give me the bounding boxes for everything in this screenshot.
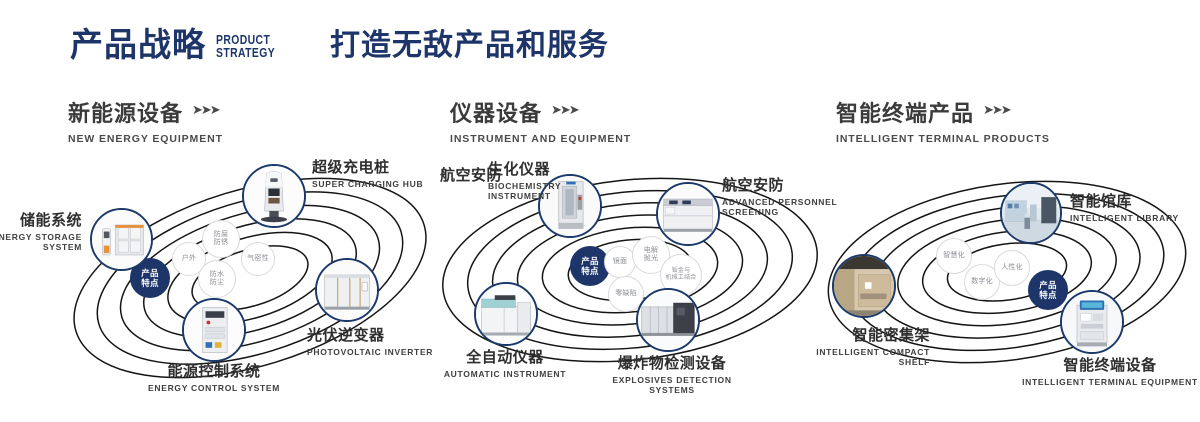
chevron-triple-icon: ➤➤➤ <box>983 102 1010 118</box>
section-title-en: NEW ENERGY EQUIPMENT <box>68 133 223 145</box>
caption-aviation-security: 航空安防 <box>402 168 502 185</box>
section-heading-new-energy: 新能源设备➤➤➤ NEW ENERGY EQUIPMENT <box>68 96 223 145</box>
caption-energy-storage-system: 储能系统 ENERGY STORAGE SYSTEM <box>0 213 82 253</box>
node-photovoltaic-inverter[interactable] <box>315 258 379 322</box>
feature-bubble: 气密性 <box>241 242 275 276</box>
feature-bubble: 人性化 <box>994 250 1030 286</box>
caption-explosives-detection-systems: 爆炸物检测设备 EXPLOSIVES DETECTION SYSTEMS <box>592 356 752 396</box>
caption-energy-control-system: 能源控制系统 ENERGY CONTROL SYSTEM <box>122 364 306 393</box>
explosives-detection-photo <box>638 290 698 350</box>
section-title-cn: 仪器设备 <box>450 96 542 128</box>
caption-intelligent-compact-shelf: 智能密集架 INTELLIGENT COMPACT SHELF <box>770 328 930 368</box>
feature-bubble: 防腐 防锈 <box>202 220 240 258</box>
super-charging-hub-photo <box>244 166 304 226</box>
headline: 打造无敌产品和服务 <box>330 31 609 61</box>
node-intelligent-compact-shelf[interactable] <box>832 254 896 318</box>
automatic-instrument-photo <box>476 284 536 344</box>
page-title-english: PRODUCT STRATEGY <box>216 33 275 62</box>
page-title: 产品战略 <box>70 28 206 61</box>
chevron-triple-icon: ➤➤➤ <box>551 102 578 118</box>
feature-bubble: 镜面 <box>604 246 636 278</box>
node-explosives-detection-systems[interactable] <box>636 288 700 352</box>
node-energy-control-system[interactable] <box>182 298 246 362</box>
node-intelligent-terminal-equipment[interactable] <box>1060 290 1124 354</box>
node-advanced-personnel-screening[interactable] <box>656 182 720 246</box>
feature-bubble: 智慧化 <box>936 238 972 274</box>
intelligent-library-photo <box>1002 184 1060 242</box>
section-title-en: INTELLIGENT TERMINAL PRODUCTS <box>836 133 1050 145</box>
advanced-personnel-screening-photo <box>658 184 718 244</box>
caption-intelligent-library: 智能馆库 INTELLIGENT LIBRARY <box>1070 194 1200 223</box>
energy-storage-system-photo <box>92 210 151 269</box>
section-title-en: INSTRUMENT AND EQUIPMENT <box>450 133 631 145</box>
section-heading-instrument: 仪器设备➤➤➤ INSTRUMENT AND EQUIPMENT <box>450 96 631 145</box>
section-heading-intelligent-terminal: 智能终端产品➤➤➤ INTELLIGENT TERMINAL PRODUCTS <box>836 96 1050 145</box>
brand-lockup: 产品战略 PRODUCT STRATEGY <box>70 28 290 61</box>
photovoltaic-inverter-photo <box>317 260 377 320</box>
cluster-intelligent-terminal-products: 智慧化 数字化 人性化 产品 特点 <box>812 150 1200 410</box>
node-energy-storage-system[interactable] <box>90 208 153 271</box>
intelligent-terminal-equipment-photo <box>1062 292 1122 352</box>
section-title-cn: 智能终端产品 <box>836 96 974 128</box>
intelligent-compact-shelf-photo <box>834 256 894 316</box>
caption-automatic-instrument: 全自动仪器 AUTOMATIC INSTRUMENT <box>422 350 588 379</box>
product-strategy-infographic: 产品战略 PRODUCT STRATEGY 打造无敌产品和服务 新能源设备➤➤➤… <box>0 0 1200 422</box>
page-header: 产品战略 PRODUCT STRATEGY 打造无敌产品和服务 <box>0 0 1200 88</box>
feature-bubble: 防水 防尘 <box>198 260 236 298</box>
caption-intelligent-terminal-equipment: 智能终端设备 INTELLIGENT TERMINAL EQUIPMENT <box>1016 358 1200 387</box>
energy-control-system-photo <box>184 300 244 360</box>
node-intelligent-library[interactable] <box>1000 182 1062 244</box>
cluster-new-energy-equipment: 户外 防腐 防锈 防水 防尘 气密性 产品 特点 <box>50 150 450 410</box>
caption-biochemistry-instrument: 生化仪器 BIOCHEMISTRY INSTRUMENT <box>488 162 618 202</box>
cluster-instrument-and-equipment: 产品 特点 镜面 电解 抛光 钣金与 机械工结合 零缺陷 航空安防 <box>430 150 830 410</box>
node-super-charging-hub[interactable] <box>242 164 306 228</box>
node-automatic-instrument[interactable] <box>474 282 538 346</box>
section-title-cn: 新能源设备 <box>68 96 183 128</box>
chevron-triple-icon: ➤➤➤ <box>192 102 219 118</box>
